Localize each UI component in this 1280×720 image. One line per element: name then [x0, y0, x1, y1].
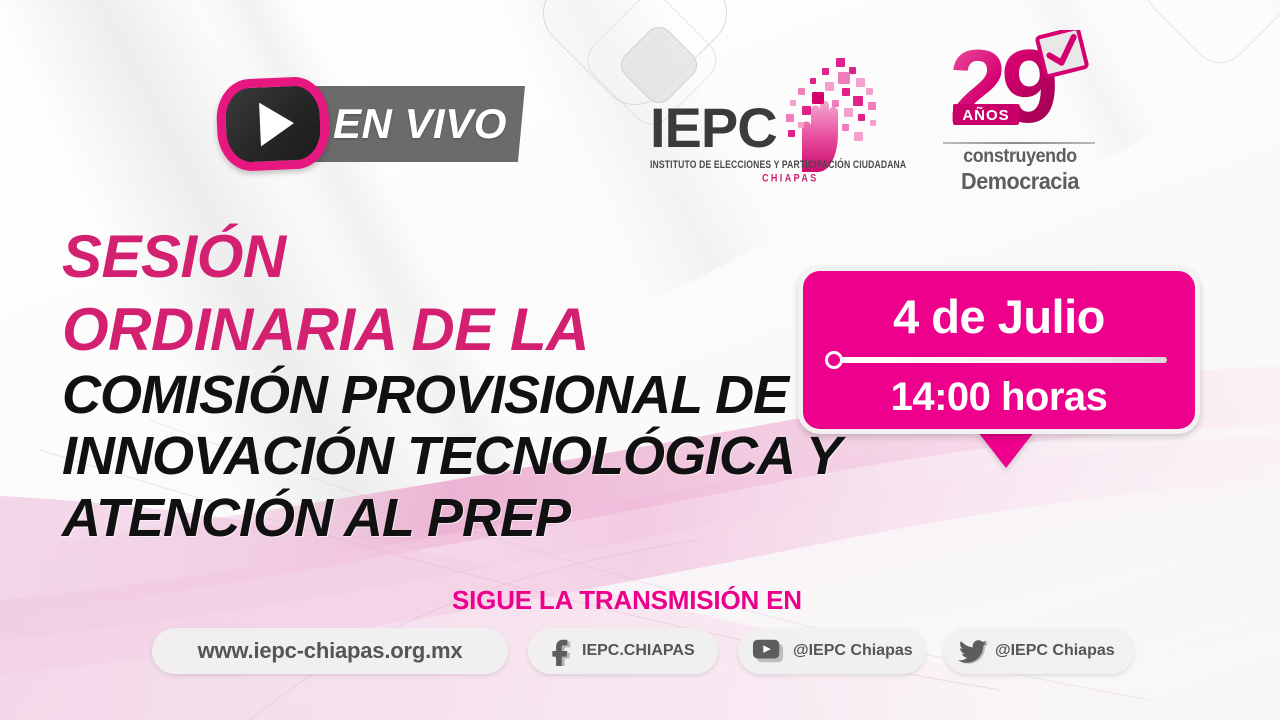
title-line-4: INNOVACIÓN TECNOLÓGICA Y: [62, 431, 842, 482]
title-line-5: ATENCIÓN AL PREP: [62, 493, 842, 544]
iepc-state-label: CHIAPAS: [762, 172, 819, 184]
svg-text:AÑOS: AÑOS: [962, 106, 1009, 124]
play-icon[interactable]: [215, 76, 331, 173]
page-title: SESIÓN ORDINARIA DE LA COMISIÓN PROVISIO…: [62, 228, 842, 544]
live-badge-label: EN VIVO: [333, 96, 523, 152]
iepc-wordmark: IEPC: [650, 100, 777, 156]
poster-canvas: EN VIVO: [0, 0, 1280, 720]
anniversary-line2: Democracia: [940, 168, 1100, 195]
anniversary-logo: 29 AÑOS construyendo Democracia: [935, 30, 1105, 195]
title-line-3: COMISIÓN PROVISIONAL DE: [62, 370, 842, 421]
website-text: www.iepc-chiapas.org.mx: [198, 638, 463, 664]
callout-bullet-icon: [825, 351, 843, 369]
diamond-outline-icon: [1135, 0, 1280, 75]
twitter-icon: [956, 635, 988, 667]
facebook-pill[interactable]: IEPC.CHIAPAS: [528, 628, 718, 674]
callout-divider: [831, 357, 1167, 363]
play-triangle-icon: [259, 101, 295, 146]
anniversary-line1: construyendo: [940, 146, 1100, 168]
callout-box: 4 de Julio 14:00 horas: [798, 266, 1200, 434]
iepc-subtitle: INSTITUTO DE ELECCIONES Y PARTICIPACIÓN …: [650, 158, 875, 171]
event-date: 4 de Julio: [803, 289, 1195, 344]
callout-pointer: [978, 432, 1034, 468]
anniversary-number-icon: 29 AÑOS: [935, 30, 1105, 138]
website-pill[interactable]: www.iepc-chiapas.org.mx: [152, 628, 508, 674]
facebook-icon: [542, 635, 574, 667]
twitter-handle: @IEPC Chiapas: [995, 642, 1115, 660]
anniversary-divider: [943, 142, 1095, 144]
iepc-logo: IEPC INSTITUTO DE ELECCIONES Y PARTICIPA…: [650, 58, 875, 188]
event-time: 14:00 horas: [803, 375, 1195, 420]
date-callout: 4 de Julio 14:00 horas: [798, 266, 1200, 481]
follow-label: SIGUE LA TRANSMISIÓN EN: [452, 585, 802, 616]
title-line-1: SESIÓN: [62, 228, 842, 285]
facebook-handle: IEPC.CHIAPAS: [582, 642, 695, 660]
youtube-handle: @IEPC Chiapas: [793, 642, 913, 660]
live-badge[interactable]: EN VIVO: [205, 78, 525, 174]
youtube-pill[interactable]: @IEPC Chiapas: [738, 628, 926, 674]
title-line-2: ORDINARIA DE LA: [62, 301, 842, 358]
youtube-icon: [752, 635, 784, 667]
twitter-pill[interactable]: @IEPC Chiapas: [944, 628, 1134, 674]
